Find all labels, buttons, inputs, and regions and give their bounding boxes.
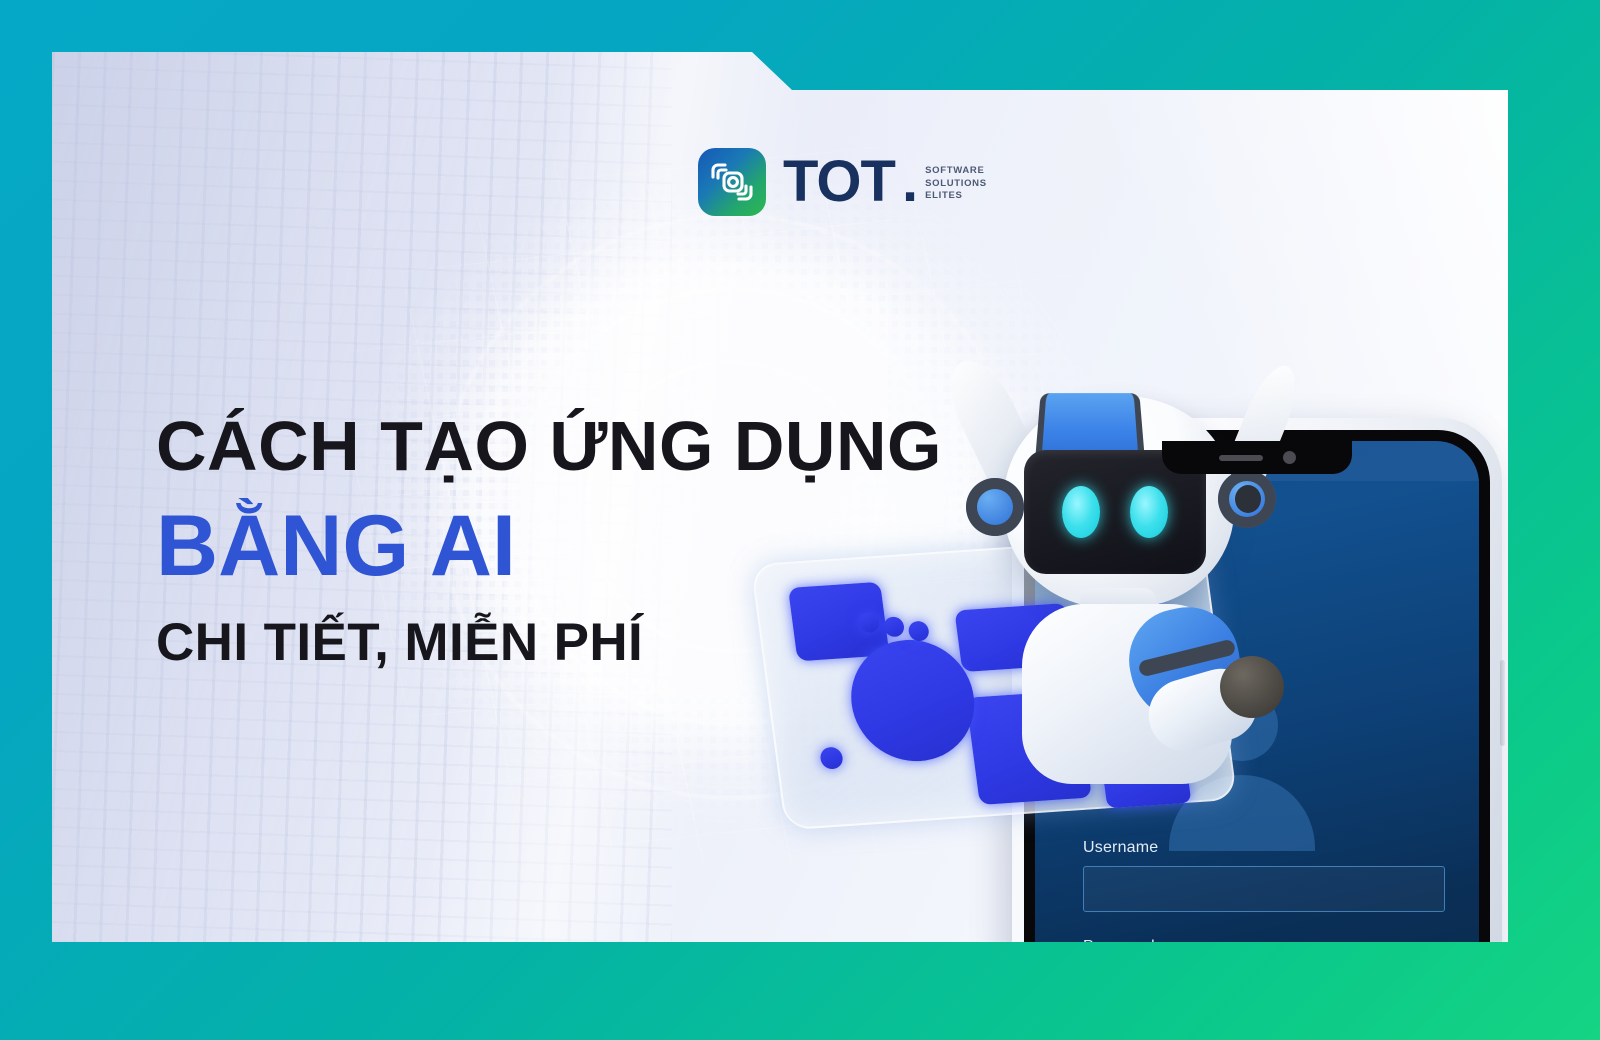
logo-tagline-line-3: ELITES [925, 190, 987, 203]
login-form: Username Password Remember me Forgot Pas… [1083, 839, 1445, 942]
front-camera-icon [1283, 451, 1296, 464]
username-input[interactable] [1083, 866, 1445, 912]
robot-eye-left [1062, 486, 1100, 538]
phone-side-button[interactable] [1500, 660, 1505, 746]
username-label: Username [1083, 839, 1445, 857]
earpiece-speaker-icon [1219, 455, 1263, 461]
robot-hand [1220, 656, 1284, 718]
brand-logo[interactable]: TOT . SOFTWARE SOLUTIONS ELITES [698, 148, 987, 216]
logo-tagline: SOFTWARE SOLUTIONS ELITES [925, 165, 987, 207]
banner-card: TOT . SOFTWARE SOLUTIONS ELITES CÁCH TẠO… [52, 52, 1508, 942]
logo-dot: . [902, 157, 918, 207]
ai-robot-mascot [952, 352, 1302, 822]
logo-tagline-line-1: SOFTWARE [925, 165, 987, 178]
robot-headphone-right-icon [1218, 470, 1276, 528]
phone-notch [1162, 441, 1352, 474]
logo-tagline-line-2: SOLUTIONS [925, 178, 987, 191]
headline-line-1: CÁCH TẠO ỨNG DỤNG [156, 410, 986, 482]
tot-logo-mark-icon [698, 148, 766, 216]
logo-wordmark: TOT [783, 157, 895, 207]
robot-eye-right [1130, 486, 1168, 538]
password-label: Password [1083, 938, 1445, 942]
robot-headphone-left-icon [966, 478, 1024, 536]
